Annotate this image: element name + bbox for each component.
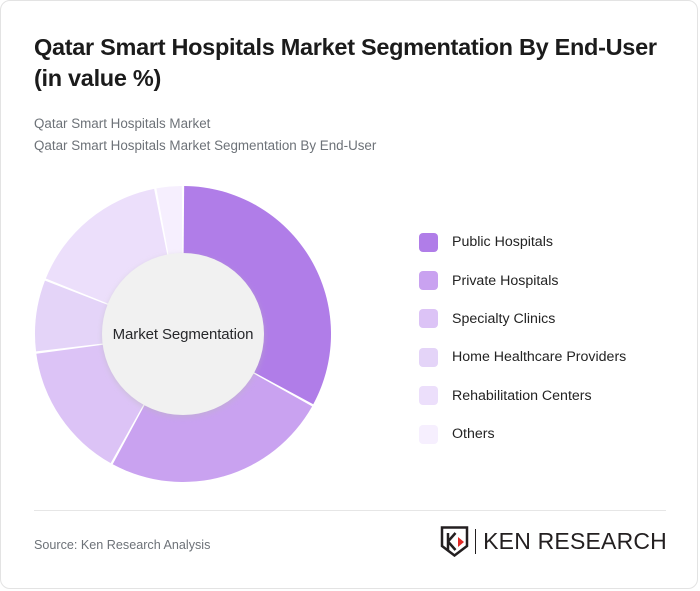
logo-wordmark: KEN RESEARCH <box>483 530 667 553</box>
ken-research-logo-mark <box>440 526 469 557</box>
footer-divider <box>34 510 666 511</box>
legend-swatch-icon <box>419 271 438 290</box>
legend-item[interactable]: Rehabilitation Centers <box>419 377 679 415</box>
chart-legend: Public HospitalsPrivate HospitalsSpecial… <box>419 223 679 453</box>
legend-swatch-icon <box>419 425 438 444</box>
legend-label: Home Healthcare Providers <box>452 349 626 365</box>
donut-chart: Market Segmentation <box>33 184 333 484</box>
legend-swatch-icon <box>419 309 438 328</box>
legend-item[interactable]: Others <box>419 415 679 453</box>
chart-card: Qatar Smart Hospitals Market Segmentatio… <box>0 0 698 589</box>
subtitle-line-1: Qatar Smart Hospitals Market <box>34 113 654 135</box>
donut-hole <box>102 253 264 415</box>
logo-separator <box>475 529 477 554</box>
legend-item[interactable]: Public Hospitals <box>419 223 679 261</box>
legend-swatch-icon <box>419 233 438 252</box>
chart-area: Market Segmentation Public HospitalsPriv… <box>1 171 698 497</box>
legend-swatch-icon <box>419 386 438 405</box>
legend-label: Private Hospitals <box>452 273 558 289</box>
legend-swatch-icon <box>419 348 438 367</box>
subtitle-block: Qatar Smart Hospitals Market Qatar Smart… <box>34 113 654 156</box>
legend-label: Others <box>452 426 495 442</box>
source-note: Source: Ken Research Analysis <box>34 538 210 552</box>
subtitle-line-2: Qatar Smart Hospitals Market Segmentatio… <box>34 135 654 157</box>
donut-svg <box>33 184 333 484</box>
legend-label: Rehabilitation Centers <box>452 388 592 404</box>
legend-item[interactable]: Private Hospitals <box>419 261 679 299</box>
legend-item[interactable]: Home Healthcare Providers <box>419 338 679 376</box>
legend-item[interactable]: Specialty Clinics <box>419 300 679 338</box>
legend-label: Specialty Clinics <box>452 311 555 327</box>
page-title: Qatar Smart Hospitals Market Segmentatio… <box>34 32 659 93</box>
ken-research-logo: KEN RESEARCH <box>440 525 667 557</box>
legend-label: Public Hospitals <box>452 234 553 250</box>
